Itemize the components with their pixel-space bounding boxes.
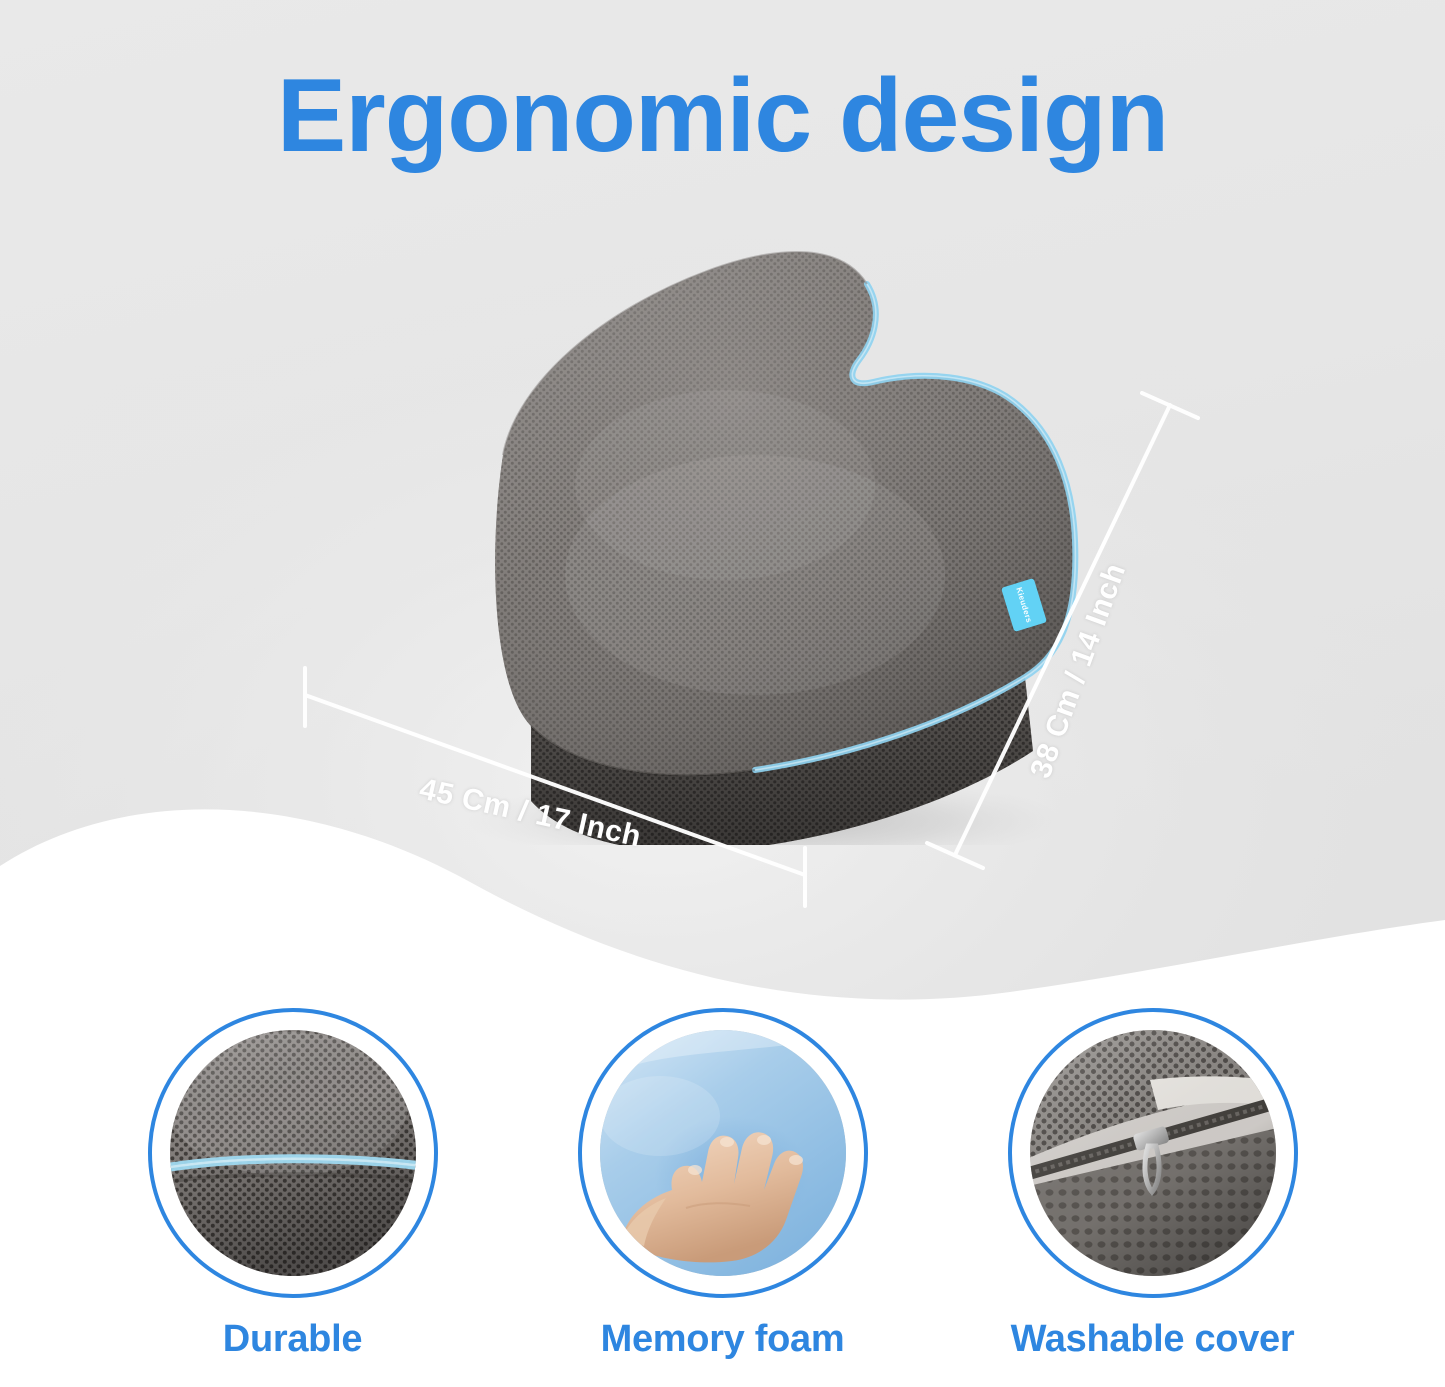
- grey-mesh-fabric-icon: [170, 1030, 416, 1276]
- feature-durable[interactable]: Durable: [140, 1000, 445, 1361]
- hero-section: Ergonomic design: [0, 0, 1445, 1000]
- wave-divider: [0, 770, 1445, 1000]
- feature-durable-ring: [148, 1008, 438, 1298]
- feature-memory-foam-ring: [578, 1008, 868, 1298]
- feature-washable-cover-image: [1030, 1030, 1276, 1276]
- hand-pressing-foam-icon: [600, 1030, 846, 1276]
- feature-memory-foam-label: Memory foam: [570, 1318, 875, 1361]
- feature-row: Durable: [0, 1000, 1445, 1361]
- depth-dimension-cap-top: [1142, 393, 1198, 418]
- zipper-on-mesh-icon: [1030, 1030, 1276, 1276]
- feature-memory-foam-image: [600, 1030, 846, 1276]
- feature-durable-label: Durable: [140, 1318, 445, 1361]
- feature-memory-foam[interactable]: Memory foam: [570, 1000, 875, 1361]
- features-section: Durable: [0, 1000, 1445, 1387]
- page-title: Ergonomic design: [0, 62, 1445, 171]
- feature-durable-image: [170, 1030, 416, 1276]
- feature-washable-cover[interactable]: Washable cover: [1000, 1000, 1305, 1361]
- feature-washable-cover-label: Washable cover: [1000, 1318, 1305, 1361]
- feature-washable-cover-ring: [1008, 1008, 1298, 1298]
